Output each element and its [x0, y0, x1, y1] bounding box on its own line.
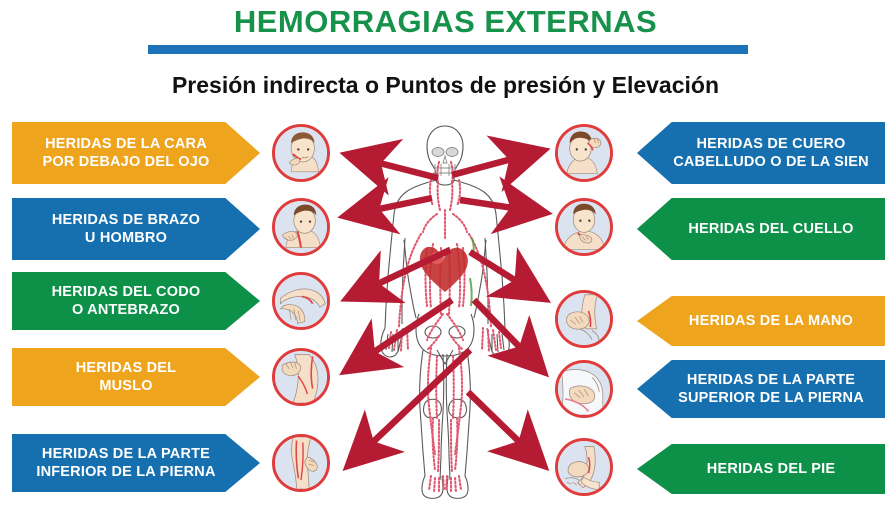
label-heridas-parte-superior-pierna[interactable]: HERIDAS DE LA PARTE SUPERIOR DE LA PIERN… — [637, 360, 885, 418]
infographic-root: HEMORRAGIAS EXTERNAS Presión indirecta o… — [0, 0, 891, 509]
label-text: HERIDAS DEL PIE — [701, 460, 841, 478]
label-text: HERIDAS DE CUERO CABELLUDO O DE LA SIEN — [667, 135, 875, 171]
label-text: HERIDAS DEL CODO O ANTEBRAZO — [46, 283, 207, 319]
label-heridas-parte-inferior-pierna[interactable]: HERIDAS DE LA PARTE INFERIOR DE LA PIERN… — [12, 434, 260, 492]
neck-pressure-point-icon[interactable] — [555, 198, 613, 256]
upper-leg-pressure-point-icon[interactable] — [555, 360, 613, 418]
title-divider — [148, 45, 748, 54]
elbow-pressure-point-icon[interactable] — [272, 272, 330, 330]
label-heridas-del-cuello[interactable]: HERIDAS DEL CUELLO — [637, 198, 885, 260]
label-heridas-cuero-cabelludo[interactable]: HERIDAS DE CUERO CABELLUDO O DE LA SIEN — [637, 122, 885, 184]
human-circulatory-system-figure — [375, 118, 515, 503]
page-subtitle: Presión indirecta o Puntos de presión y … — [0, 72, 891, 99]
thigh-pressure-point-icon[interactable] — [272, 348, 330, 406]
face-pressure-point-icon[interactable] — [272, 124, 330, 182]
label-heridas-de-la-cara[interactable]: HERIDAS DE LA CARA POR DEBAJO DEL OJO — [12, 122, 260, 184]
hand-pressure-point-icon[interactable] — [555, 290, 613, 348]
page-title: HEMORRAGIAS EXTERNAS — [0, 4, 891, 40]
label-heridas-de-la-mano[interactable]: HERIDAS DE LA MANO — [637, 296, 885, 346]
scalp-temple-pressure-point-icon[interactable] — [555, 124, 613, 182]
label-text: HERIDAS DE LA CARA POR DEBAJO DEL OJO — [37, 135, 216, 171]
label-text: HERIDAS DEL CUELLO — [682, 220, 859, 238]
label-text: HERIDAS DEL MUSLO — [70, 359, 183, 395]
label-text: HERIDAS DE LA PARTE SUPERIOR DE LA PIERN… — [672, 371, 870, 407]
label-text: HERIDAS DE LA PARTE INFERIOR DE LA PIERN… — [30, 445, 221, 481]
label-heridas-de-brazo[interactable]: HERIDAS DE BRAZO U HOMBRO — [12, 198, 260, 260]
label-heridas-del-codo[interactable]: HERIDAS DEL CODO O ANTEBRAZO — [12, 272, 260, 330]
label-text: HERIDAS DE LA MANO — [683, 312, 859, 330]
label-text: HERIDAS DE BRAZO U HOMBRO — [46, 211, 206, 247]
foot-pressure-point-icon[interactable] — [555, 438, 613, 496]
label-heridas-del-muslo[interactable]: HERIDAS DEL MUSLO — [12, 348, 260, 406]
label-heridas-del-pie[interactable]: HERIDAS DEL PIE — [637, 444, 885, 494]
shoulder-pressure-point-icon[interactable] — [272, 198, 330, 256]
lower-leg-pressure-point-icon[interactable] — [272, 434, 330, 492]
